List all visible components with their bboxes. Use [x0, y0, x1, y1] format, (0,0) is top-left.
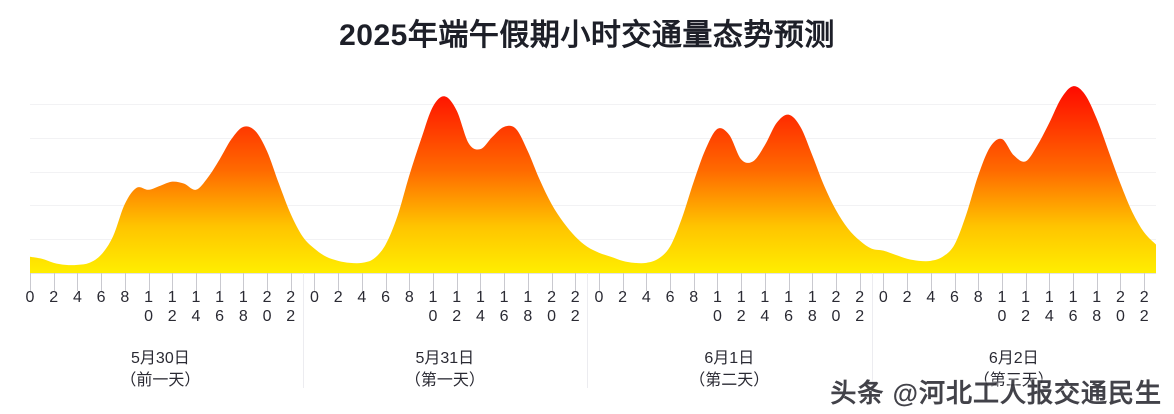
- hour-tick-label: 0: [586, 288, 612, 307]
- day-group-label: 5月31日（第一天）: [325, 348, 565, 392]
- hour-tick-label: 4: [349, 288, 375, 307]
- hour-tick-label: 16: [1060, 288, 1086, 326]
- hour-tick-label: 14: [1036, 288, 1062, 326]
- hour-tick-label: 22: [1131, 288, 1157, 326]
- hour-tick-label: 18: [515, 288, 541, 326]
- hour-tick-label: 4: [64, 288, 90, 307]
- hour-tick-label: 10: [989, 288, 1015, 326]
- hour-tick-label: 8: [112, 288, 138, 307]
- hour-tick-label: 14: [183, 288, 209, 326]
- day-date: 6月1日: [704, 350, 754, 367]
- hour-tick-label: 22: [847, 288, 873, 326]
- hour-tick-label: 20: [539, 288, 565, 326]
- hour-tick-label: 6: [942, 288, 968, 307]
- day-date: 5月31日: [415, 350, 474, 367]
- hour-tick-label: 22: [278, 288, 304, 326]
- hour-tick-label: 16: [776, 288, 802, 326]
- plot-area: [30, 70, 1156, 273]
- page-title: 2025年端午假期小时交通量态势预测: [0, 16, 1174, 56]
- hour-tick-label: 10: [704, 288, 730, 326]
- day-date: 5月30日: [131, 350, 190, 367]
- hour-tick-label: 6: [657, 288, 683, 307]
- hour-tick-label: 2: [41, 288, 67, 307]
- day-group-label: 6月1日（第二天）: [609, 348, 849, 392]
- hour-tick-label: 16: [491, 288, 517, 326]
- hour-tick-label: 16: [207, 288, 233, 326]
- hour-tick-label: 8: [396, 288, 422, 307]
- hour-tick-label: 2: [894, 288, 920, 307]
- day-date: 6月2日: [989, 350, 1039, 367]
- hour-tick-label: 8: [965, 288, 991, 307]
- hour-tick-label: 18: [1084, 288, 1110, 326]
- hour-tick-label: 4: [633, 288, 659, 307]
- hour-tick-label: 4: [918, 288, 944, 307]
- hour-tick-label: 12: [728, 288, 754, 326]
- hour-tick-label: 20: [1107, 288, 1133, 326]
- hour-tick-label: 12: [444, 288, 470, 326]
- hour-tick-label: 12: [159, 288, 185, 326]
- day-note: （前一天）: [40, 370, 280, 392]
- hour-tick-label: 6: [373, 288, 399, 307]
- hour-tick-label: 12: [1013, 288, 1039, 326]
- area-fill-path: [30, 86, 1156, 273]
- hour-tick-label: 14: [752, 288, 778, 326]
- hour-tick-label: 18: [799, 288, 825, 326]
- hour-tick-label: 2: [610, 288, 636, 307]
- hour-tick-label: 10: [136, 288, 162, 326]
- hour-tick-label: 20: [823, 288, 849, 326]
- hour-tick-label: 20: [254, 288, 280, 326]
- hour-tick-label: 0: [870, 288, 896, 307]
- hour-tick-label: 22: [562, 288, 588, 326]
- traffic-volume-area-chart: [30, 70, 1156, 273]
- hour-tick-label: 2: [325, 288, 351, 307]
- hour-tick-label: 14: [467, 288, 493, 326]
- watermark: 头条 @河北工人报交通民生: [830, 373, 1162, 410]
- hour-tick-label: 8: [681, 288, 707, 307]
- hour-tick-labels: 0246810121416182022024681012141618202202…: [30, 288, 1156, 334]
- day-group-label: 5月30日（前一天）: [40, 348, 280, 392]
- hour-tick-label: 18: [230, 288, 256, 326]
- chart-page: 2025年端午假期小时交通量态势预测 024681012141618202202…: [0, 0, 1174, 414]
- day-note: （第二天）: [609, 370, 849, 392]
- hour-tick-label: 10: [420, 288, 446, 326]
- hour-tick-label: 6: [88, 288, 114, 307]
- hour-tick-label: 0: [301, 288, 327, 307]
- hour-tick-label: 0: [17, 288, 43, 307]
- day-note: （第一天）: [325, 370, 565, 392]
